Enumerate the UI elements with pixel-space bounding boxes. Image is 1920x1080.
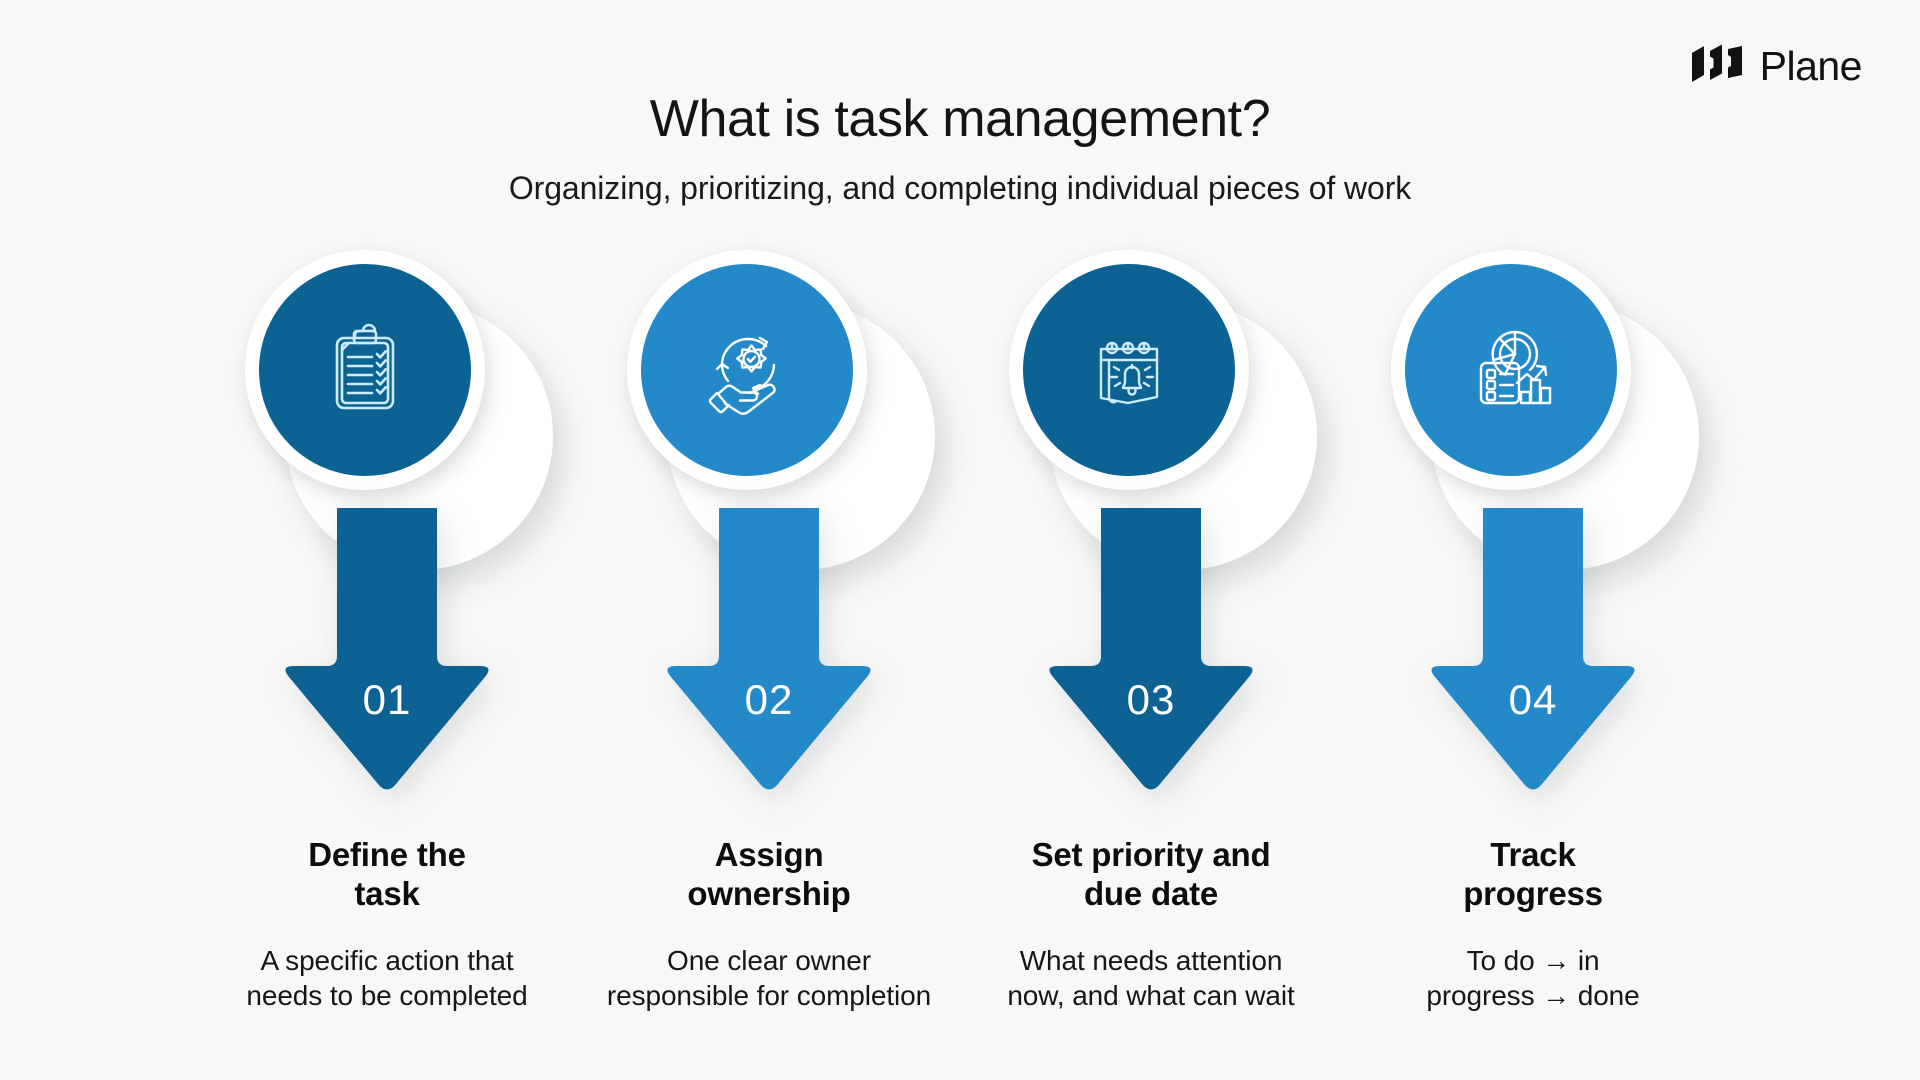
step-caption: Track progress To do → in progress → don…	[1353, 836, 1713, 1013]
step-badge	[1383, 250, 1683, 550]
brand-logo: Plane	[1690, 44, 1862, 89]
step-item: 03 Set priority and due date What needs …	[960, 250, 1342, 1013]
badge-disc	[1023, 264, 1235, 476]
badge-disc	[641, 264, 853, 476]
step-description: One clear owner responsible for completi…	[589, 943, 949, 1013]
page-subtitle: Organizing, prioritizing, and completing…	[0, 170, 1920, 207]
step-caption: Set priority and due date What needs att…	[971, 836, 1331, 1013]
step-arrow: 01	[272, 508, 502, 808]
step-arrow: 02	[654, 508, 884, 808]
badge-disc	[259, 264, 471, 476]
calendar-alarm-bell-icon	[1079, 320, 1179, 420]
page-title: What is task management?	[0, 90, 1920, 148]
clipboard-checklist-icon	[315, 320, 415, 420]
step-item: 04 Track progress To do → in progress → …	[1342, 250, 1724, 1013]
step-caption: Assign ownership One clear owner respons…	[589, 836, 949, 1013]
page-header: What is task management? Organizing, pri…	[0, 90, 1920, 207]
hand-gear-check-icon	[697, 320, 797, 420]
step-item: 02 Assign ownership One clear owner resp…	[578, 250, 960, 1013]
badge-disc	[1405, 264, 1617, 476]
step-arrow: 04	[1418, 508, 1648, 808]
step-item: 01 Define the task A specific action tha…	[196, 250, 578, 1013]
step-description: What needs attention now, and what can w…	[971, 943, 1331, 1013]
step-caption: Define the task A specific action that n…	[207, 836, 567, 1013]
brand-name: Plane	[1760, 46, 1862, 87]
step-title: Assign ownership	[589, 836, 949, 913]
step-arrow: 03	[1036, 508, 1266, 808]
step-title: Define the task	[207, 836, 567, 913]
step-description: To do → in progress → done	[1353, 943, 1713, 1013]
step-description: A specific action that needs to be compl…	[207, 943, 567, 1013]
step-title: Track progress	[1353, 836, 1713, 913]
steps-row: 01 Define the task A specific action tha…	[100, 250, 1820, 1013]
plane-logo-mark-icon	[1690, 44, 1746, 89]
step-badge	[237, 250, 537, 550]
step-badge	[1001, 250, 1301, 550]
progress-chart-checklist-icon	[1461, 320, 1561, 420]
step-title: Set priority and due date	[971, 836, 1331, 913]
step-badge	[619, 250, 919, 550]
